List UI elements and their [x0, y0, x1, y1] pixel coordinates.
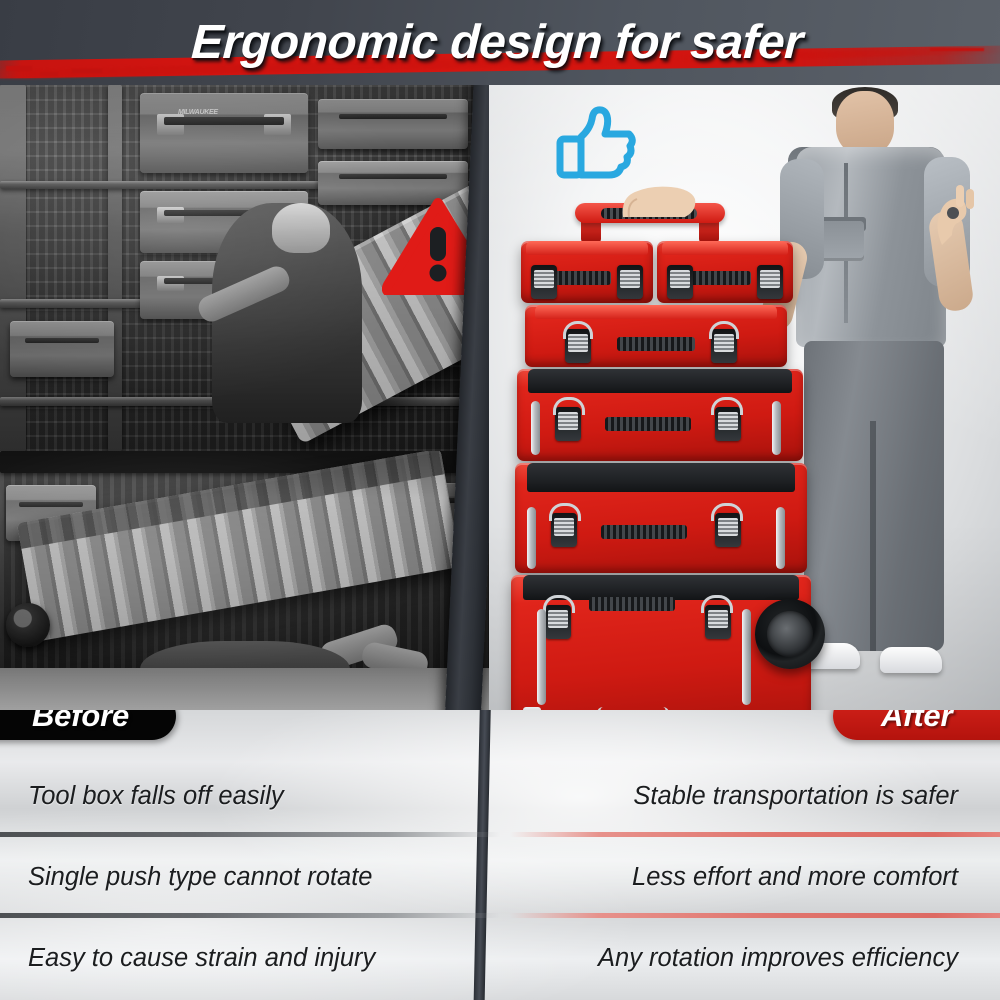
tool-box-vent: [601, 525, 687, 539]
tool-box-vent: [605, 417, 691, 431]
latch-wire: [553, 397, 585, 415]
after-list: Stable transportation is safer Less effo…: [500, 756, 980, 1000]
tool-box-vent: [617, 337, 695, 351]
tool-box-lid: [526, 241, 647, 255]
side-rail: [527, 507, 536, 569]
before-label-text: Before: [32, 710, 129, 734]
worker-head: [836, 91, 894, 155]
latch-wire: [711, 397, 743, 415]
tool-box-lid: [535, 305, 776, 319]
side-rail: [742, 609, 751, 705]
latch-wire: [709, 321, 739, 339]
tool-box-large: [517, 369, 803, 461]
after-item-text: Stable transportation is safer: [633, 782, 958, 811]
header-banner: Ergonomic design for safer: [0, 0, 1000, 85]
after-item-text: Less effort and more comfort: [632, 863, 958, 892]
infographic-page: Ergonomic design for safer MILWAUKEE: [0, 0, 1000, 1000]
tool-box-lid: [662, 241, 787, 255]
before-item-text: Tool box falls off easily: [28, 782, 284, 811]
tool-box-large: [515, 463, 807, 573]
latch-wire: [543, 595, 575, 613]
before-list: Tool box falls off easily Single push ty…: [0, 756, 480, 1000]
after-label-text: After: [881, 710, 952, 734]
before-item-text: Easy to cause strain and injury: [28, 944, 375, 973]
after-item-text: Any rotation improves efficiency: [598, 944, 958, 973]
tool-box-latch: [667, 265, 693, 299]
after-label-badge: After: [833, 710, 1000, 740]
photo-shading: [0, 451, 505, 710]
latch-wire: [549, 503, 581, 521]
tool-box-medium: [525, 305, 787, 367]
list-item: Single push type cannot rotate: [0, 837, 480, 918]
side-rail: [531, 401, 540, 455]
list-item: Any rotation improves efficiency: [500, 918, 980, 999]
tool-box-organizer: [521, 241, 653, 303]
side-rail: [537, 609, 546, 705]
tool-box-latch: [757, 265, 783, 299]
before-photo-group: MILWAUKEE: [0, 85, 505, 710]
list-item: Less effort and more comfort: [500, 837, 980, 918]
pants-seam: [870, 421, 876, 651]
before-label-badge: Before: [0, 710, 176, 740]
tool-box-latch: [531, 265, 557, 299]
ok-gesture-hand: [926, 183, 980, 245]
tool-box-lid: [528, 369, 791, 393]
list-item: Tool box falls off easily: [0, 756, 480, 837]
comparison-section: Before After Tool box falls off easily S…: [0, 710, 1000, 1000]
photo-stage: MILWAUKEE: [0, 85, 1000, 710]
modular-tool-box-stack: [511, 207, 811, 707]
tool-box-lid: [527, 463, 796, 492]
list-item: Stable transportation is safer: [500, 756, 980, 837]
worker-shoe: [880, 647, 942, 673]
tool-box-vent: [589, 597, 675, 611]
rear-wheel: [755, 599, 825, 669]
before-photo-bottom: [0, 451, 505, 710]
latch-wire: [711, 503, 743, 521]
thumbs-up-icon: [551, 103, 639, 183]
after-photo: [489, 85, 1000, 710]
before-item-text: Single push type cannot rotate: [28, 863, 373, 892]
list-item: Easy to cause strain and injury: [0, 918, 480, 999]
gripping-hand: [619, 177, 699, 223]
tool-box-latch: [617, 265, 643, 299]
side-rail: [772, 401, 781, 455]
tool-box-organizer: [657, 241, 793, 303]
latch-wire: [701, 595, 733, 613]
page-title: Ergonomic design for safer: [0, 0, 1000, 85]
side-rail: [776, 507, 785, 569]
latch-wire: [563, 321, 593, 339]
